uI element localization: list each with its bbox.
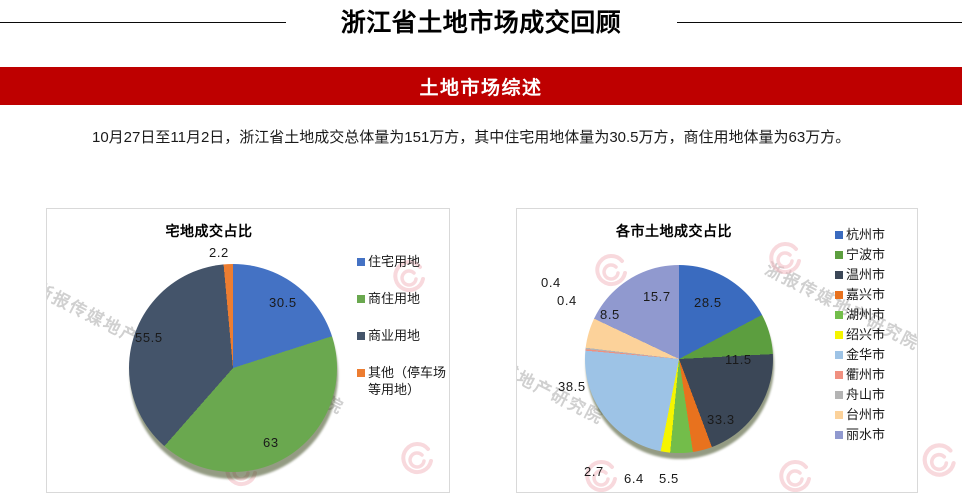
legend-item[interactable]: 台州市 bbox=[835, 406, 885, 423]
legend-swatch-icon bbox=[835, 251, 843, 259]
legend-item[interactable]: 温州市 bbox=[835, 266, 885, 283]
legend-item[interactable]: 金华市 bbox=[835, 346, 885, 363]
legend-swatch-icon bbox=[357, 332, 365, 340]
legend-label: 其他（停车场等用地） bbox=[368, 364, 450, 398]
page-title: 浙江省土地市场成交回顾 bbox=[0, 6, 962, 40]
legend-label: 台州市 bbox=[846, 406, 885, 423]
legend-swatch-icon bbox=[357, 369, 365, 377]
pie-label-mixed: 63 bbox=[263, 435, 279, 450]
pie-slices-left bbox=[129, 264, 337, 472]
legend-label: 商住用地 bbox=[368, 290, 450, 307]
pie-label-zhoushan: 0.4 bbox=[541, 275, 561, 290]
pie-label-commercial: 55.5 bbox=[135, 330, 163, 345]
legend-item[interactable]: 杭州市 bbox=[835, 226, 885, 243]
legend-item[interactable]: 衢州市 bbox=[835, 366, 885, 383]
legend-swatch-icon bbox=[835, 371, 843, 379]
legend-swatch-icon bbox=[835, 331, 843, 339]
legend-label: 商业用地 bbox=[368, 327, 450, 344]
pie-label-taizhou: 8.5 bbox=[600, 307, 620, 322]
legend-swatch-icon bbox=[357, 258, 365, 266]
pie-label-jinhua: 38.5 bbox=[558, 379, 586, 394]
legend-item[interactable]: 宁波市 bbox=[835, 246, 885, 263]
intro-paragraph: 10月27日至11月2日，浙江省土地成交总体量为151万方，其中住宅用地体量为3… bbox=[92, 124, 892, 152]
legend-item[interactable]: 嘉兴市 bbox=[835, 286, 885, 303]
pie-label-lishui: 15.7 bbox=[643, 289, 671, 304]
legend-label: 杭州市 bbox=[846, 226, 885, 243]
legend-label: 宁波市 bbox=[846, 246, 885, 263]
legend-swatch-icon bbox=[357, 295, 365, 303]
legend-swatch-icon bbox=[835, 271, 843, 279]
legend-label: 舟山市 bbox=[846, 386, 885, 403]
legend-swatch-icon bbox=[835, 391, 843, 399]
chart-title-left: 宅地成交占比 bbox=[47, 221, 449, 241]
pie-chart-left bbox=[129, 264, 341, 480]
watermark-logo-icon bbox=[773, 455, 817, 493]
watermark-logo-icon bbox=[916, 438, 962, 484]
legend-item[interactable]: 其他（停车场等用地） bbox=[357, 364, 450, 398]
legend-swatch-icon bbox=[835, 411, 843, 419]
pie-label-quzhou: 0.4 bbox=[557, 293, 577, 308]
legend-label: 衢州市 bbox=[846, 366, 885, 383]
legend-swatch-icon bbox=[835, 231, 843, 239]
legend-swatch-icon bbox=[835, 311, 843, 319]
legend-label: 绍兴市 bbox=[846, 326, 885, 343]
legend-label: 温州市 bbox=[846, 266, 885, 283]
legend-swatch-icon bbox=[835, 291, 843, 299]
legend-item[interactable]: 住宅用地 bbox=[357, 253, 450, 270]
legend-label: 金华市 bbox=[846, 346, 885, 363]
legend-label: 丽水市 bbox=[846, 426, 885, 443]
chart-panel-city-land-share: 各市土地成交占比 浙报传媒地产研究院 浙报传媒地产研究院 28.5 11.5 3… bbox=[516, 208, 918, 493]
pie-label-huzhou: 6.4 bbox=[624, 471, 644, 486]
legend-swatch-icon bbox=[835, 351, 843, 359]
legend-item[interactable]: 湖州市 bbox=[835, 306, 885, 323]
section-banner: 土地市场综述 bbox=[0, 67, 962, 105]
watermark-logo-icon bbox=[395, 437, 439, 481]
chart-panel-residential-land-share: 宅地成交占比 浙报传媒地产研究院 浙报传媒地产研究院 2.2 30.5 55.5… bbox=[46, 208, 450, 493]
pie-label-hangzhou: 28.5 bbox=[694, 295, 722, 310]
section-banner-title: 土地市场综述 bbox=[419, 73, 542, 100]
pie-label-jiaxing: 5.5 bbox=[659, 471, 679, 486]
chart-legend-right: 杭州市 宁波市 温州市 嘉兴市 湖州市 绍兴市 金华市 衢州市 bbox=[835, 226, 885, 446]
legend-item[interactable]: 丽水市 bbox=[835, 426, 885, 443]
page-header: 浙江省土地市场成交回顾 bbox=[0, 0, 962, 62]
legend-label: 住宅用地 bbox=[368, 253, 450, 270]
legend-label: 嘉兴市 bbox=[846, 286, 885, 303]
legend-item[interactable]: 商住用地 bbox=[357, 290, 450, 307]
legend-swatch-icon bbox=[835, 431, 843, 439]
pie-label-other: 2.2 bbox=[209, 245, 229, 260]
legend-item[interactable]: 商业用地 bbox=[357, 327, 450, 344]
chart-legend-left: 住宅用地 商住用地 商业用地 其他（停车场等用地） bbox=[357, 253, 450, 418]
pie-label-shaoxing: 2.7 bbox=[584, 464, 604, 479]
legend-item[interactable]: 舟山市 bbox=[835, 386, 885, 403]
pie-label-residential: 30.5 bbox=[269, 295, 297, 310]
pie-label-wenzhou: 33.3 bbox=[707, 412, 735, 427]
pie-label-ningbo: 11.5 bbox=[725, 352, 752, 367]
legend-item[interactable]: 绍兴市 bbox=[835, 326, 885, 343]
legend-label: 湖州市 bbox=[846, 306, 885, 323]
